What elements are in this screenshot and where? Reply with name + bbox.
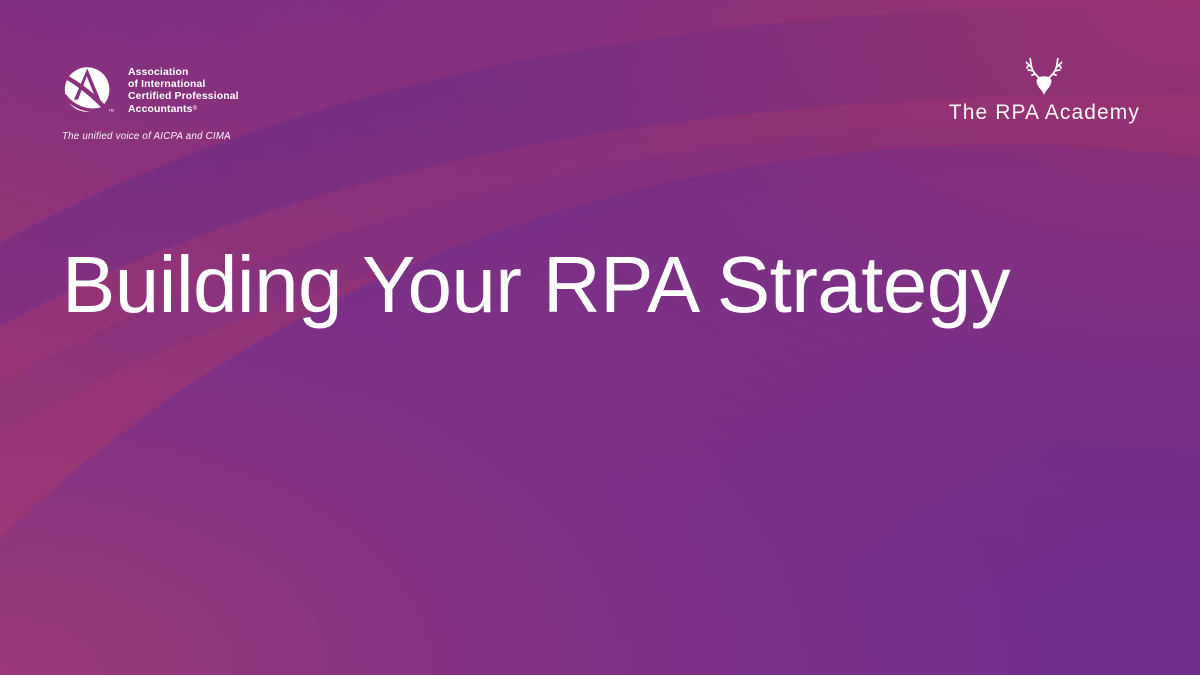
rpa-academy-logo[interactable]: The RPA Academy — [949, 52, 1140, 123]
rpa-academy-wordmark: The RPA Academy — [949, 102, 1140, 123]
registered-trademark-icon: ® — [193, 106, 197, 112]
svg-text:™: ™ — [108, 109, 114, 116]
page-title: Building Your RPA Strategy — [62, 245, 1140, 325]
aicpa-wordmark-line-4-text: Accountants — [128, 104, 193, 115]
title-block: Building Your RPA Strategy — [62, 245, 1140, 325]
aicpa-logo[interactable]: ™ Association of International Certified… — [60, 58, 239, 142]
stag-antlers-icon — [1018, 52, 1070, 98]
aicpa-wordmark-line-3: Certified Professional — [128, 91, 239, 103]
aicpa-wordmark-line-1: Association — [128, 67, 239, 79]
aicpa-wordmark: Association of International Certified P… — [128, 58, 239, 116]
aicpa-wordmark-line-4: Accountants® — [128, 103, 239, 116]
title-slide: ™ Association of International Certified… — [0, 0, 1200, 675]
aicpa-tagline: The unified voice of AICPA and CIMA — [62, 131, 239, 142]
aicpa-wordmark-line-2: of International — [128, 79, 239, 91]
aicpa-globe-mark-icon: ™ — [60, 62, 116, 118]
